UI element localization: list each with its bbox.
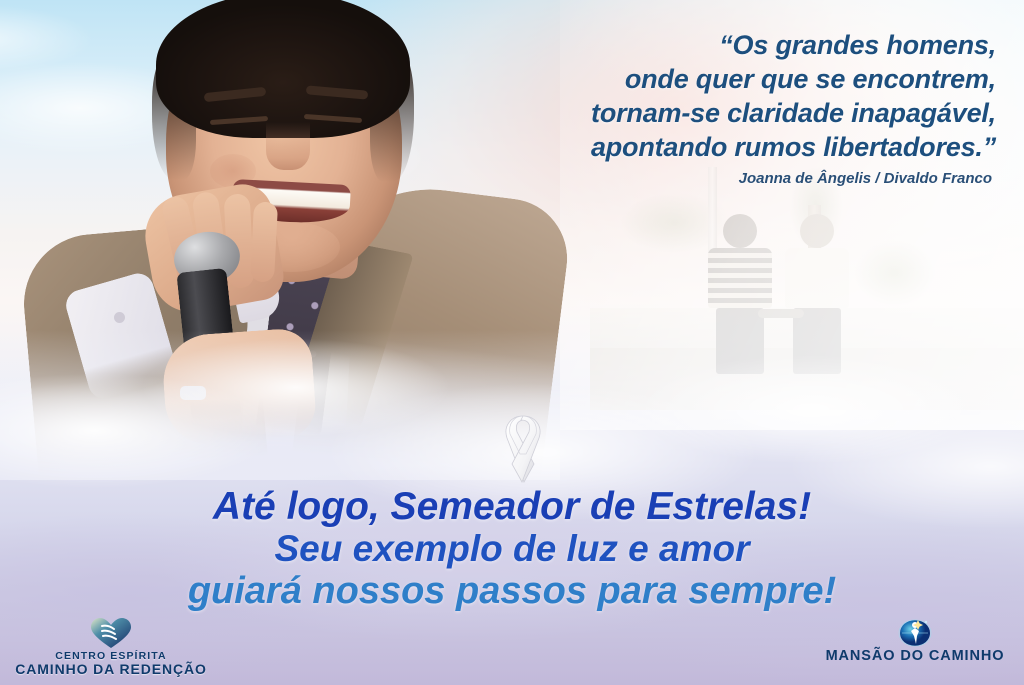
headline-line-3: guiará nossos passos para sempre!: [0, 570, 1024, 612]
logo-centro-espirita: CENTRO ESPÍRITA CAMINHO DA REDENÇÃO: [8, 616, 214, 676]
cuff-button: [114, 312, 125, 323]
hands-heart-icon: [8, 616, 214, 650]
logo-right-caption: MANSÃO DO CAMINHO: [812, 648, 1018, 664]
headline-block: Até logo, Semeador de Estrelas! Seu exem…: [0, 486, 1024, 612]
quote-attribution: Joanna de Ângelis / Divaldo Franco: [392, 170, 992, 187]
quote-line-3: tornam-se claridade inapagável,: [396, 96, 996, 130]
hair: [156, 0, 410, 138]
logo-mansao-do-caminho: MANSÃO DO CAMINHO: [812, 614, 1018, 664]
finger: [250, 201, 278, 282]
logo-left-line-2: CAMINHO DA REDENÇÃO: [8, 663, 214, 676]
quote-line-4: apontando rumos libertadores.”: [396, 130, 996, 164]
white-mourning-ribbon-icon: [487, 408, 559, 486]
headline-line-2: Seu exemplo de luz e amor: [0, 528, 1024, 570]
quote-line-2: onde quer que se encontrem,: [396, 62, 996, 96]
headline-line-1: Até logo, Semeador de Estrelas!: [0, 486, 1024, 528]
quote-line-1: “Os grandes homens,: [396, 28, 996, 62]
globe-figure-star-icon: [812, 614, 1018, 648]
nose: [266, 122, 310, 170]
logo-left-caption: CENTRO ESPÍRITA CAMINHO DA REDENÇÃO: [8, 650, 214, 676]
memorial-poster: “Os grandes homens, onde quer que se enc…: [0, 0, 1024, 685]
quote-block: “Os grandes homens, onde quer que se enc…: [396, 28, 996, 164]
